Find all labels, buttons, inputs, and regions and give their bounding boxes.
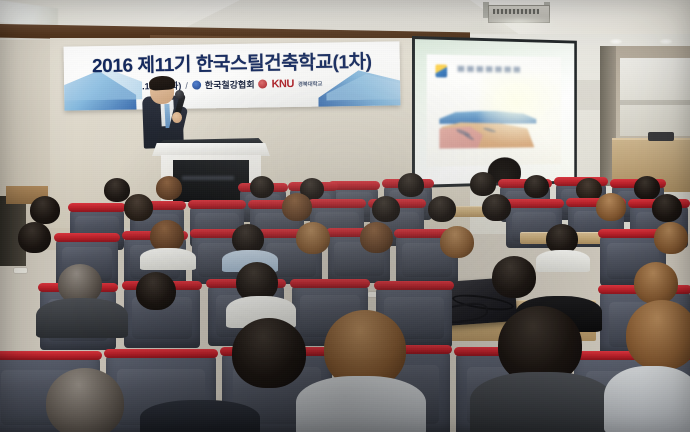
audience-head — [124, 194, 153, 221]
audience-shoulders-foreground — [140, 400, 260, 432]
knu-logo-icon — [258, 79, 267, 88]
projection-screen-frame — [412, 36, 577, 188]
rear-desk-equipment — [648, 132, 674, 141]
banner-org-secondary-full: 경북대학교 — [298, 79, 322, 87]
audience-shoulders — [36, 298, 128, 338]
audience-head — [634, 176, 660, 200]
audience-head — [428, 196, 456, 222]
audience-head-foreground — [232, 318, 306, 388]
rear-wall-panel — [620, 58, 690, 136]
ksa-logo-icon — [192, 80, 201, 89]
audience-head — [282, 193, 312, 221]
audience-head — [136, 272, 176, 310]
audience-head — [654, 222, 688, 254]
screen-glare — [481, 72, 565, 146]
audience-head-foreground — [626, 300, 690, 370]
slide-logo-icon — [435, 64, 447, 77]
banner-org-primary: 한국철강협회 — [205, 78, 255, 92]
audience-head-foreground — [46, 368, 124, 432]
audience-shoulders-foreground — [296, 376, 426, 432]
podium-panel-glint — [182, 176, 234, 180]
audience-head — [440, 226, 474, 258]
audience-shoulders-foreground — [470, 372, 614, 432]
audience-head — [372, 196, 400, 222]
speaker-hand — [172, 112, 182, 123]
downlight-icon-a — [610, 39, 622, 44]
audience-head — [360, 222, 393, 253]
podium-front-panel — [173, 160, 249, 202]
audience-head — [398, 173, 424, 197]
banner-title: 2016 제11기 한국스틸건축학교(1차) — [64, 46, 400, 78]
audience-shoulders — [536, 250, 590, 272]
banner-separator: / — [185, 80, 188, 90]
audience-shoulders-foreground — [604, 366, 690, 432]
lecture-hall-photo: 2016 제11기 한국스틸건축학교(1차) .10.25(화) / 한국철강협… — [0, 0, 690, 432]
audience-head — [482, 194, 511, 221]
audience-head — [156, 176, 182, 200]
audience-shoulders — [140, 248, 196, 270]
banner-org-secondary-abbr: KNU — [271, 78, 294, 90]
seat-number-tag — [14, 268, 27, 273]
audience-head — [652, 194, 682, 222]
audience-head — [492, 256, 536, 298]
speaker-hair — [149, 75, 176, 90]
audience-head — [18, 222, 51, 253]
projection-screen-surface — [415, 39, 574, 185]
microphone-head — [175, 90, 184, 99]
audience-head — [634, 262, 678, 304]
downlight-icon-b — [660, 39, 672, 44]
audience-head — [296, 222, 330, 254]
audience-head — [524, 175, 549, 198]
audience-head — [470, 172, 496, 196]
event-banner: 2016 제11기 한국스틸건축학교(1차) .10.25(화) / 한국철강협… — [64, 41, 401, 110]
audience-head — [30, 196, 60, 224]
audience-head — [596, 193, 626, 221]
rear-wall-panel-line — [620, 100, 690, 105]
projector-vent — [493, 9, 539, 14]
audience-head — [250, 176, 274, 198]
